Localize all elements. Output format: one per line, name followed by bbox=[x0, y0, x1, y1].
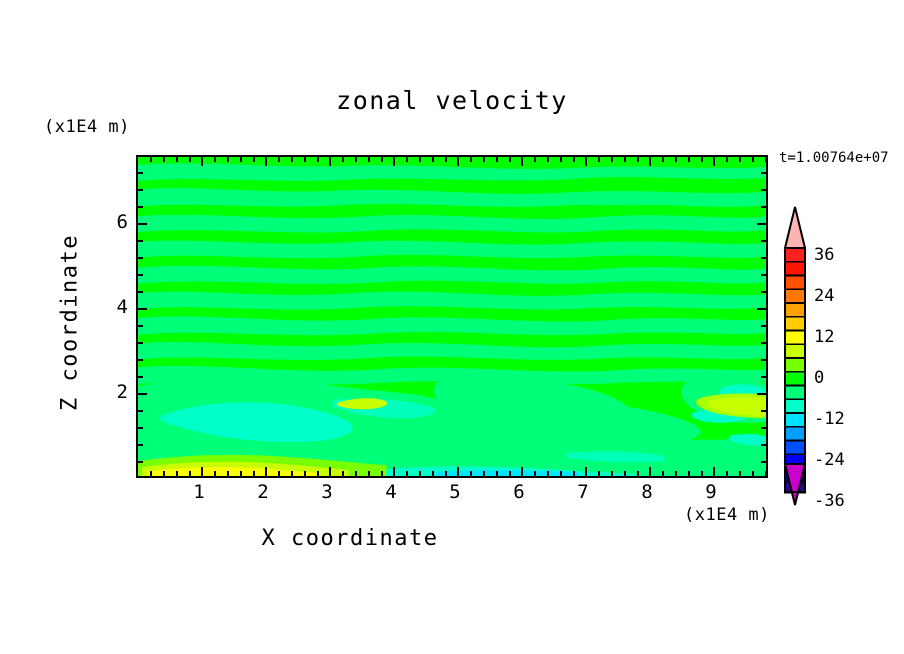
xtick-top-minor bbox=[509, 157, 511, 162]
xtick-top-minor bbox=[304, 157, 306, 162]
colorbar-label: -36 bbox=[814, 491, 845, 511]
xtick-label: 1 bbox=[179, 481, 219, 503]
ytick-right-major bbox=[757, 308, 766, 310]
xtick-minor bbox=[189, 471, 191, 476]
xtick-minor bbox=[304, 471, 306, 476]
ytick-label: 6 bbox=[88, 211, 128, 233]
xtick-top-minor bbox=[752, 157, 754, 162]
xtick-minor bbox=[240, 471, 242, 476]
xtick-top-minor bbox=[573, 157, 575, 162]
xtick-top-minor bbox=[726, 157, 728, 162]
ytick-minor bbox=[138, 410, 143, 412]
xtick-major bbox=[329, 467, 331, 476]
xtick-top-major bbox=[201, 157, 203, 166]
xtick-top-minor bbox=[189, 157, 191, 162]
page-title: zonal velocity bbox=[0, 86, 904, 115]
xtick-minor bbox=[496, 471, 498, 476]
figure-canvas: zonal velocity (x1E4 m) (x1E4 m) t=1.007… bbox=[0, 0, 904, 654]
xtick-minor bbox=[560, 471, 562, 476]
ytick-minor bbox=[138, 325, 143, 327]
xtick-minor bbox=[547, 471, 549, 476]
xtick-top-minor bbox=[253, 157, 255, 162]
ytick-right-minor bbox=[761, 257, 766, 259]
xtick-top-minor bbox=[598, 157, 600, 162]
colorbar-label: 12 bbox=[814, 327, 834, 347]
xtick-minor bbox=[253, 471, 255, 476]
x-axis-title: X coordinate bbox=[0, 526, 700, 551]
xtick-top-major bbox=[585, 157, 587, 166]
ytick-minor bbox=[138, 376, 143, 378]
xtick-minor bbox=[214, 471, 216, 476]
ytick-major bbox=[138, 223, 147, 225]
xtick-minor bbox=[675, 471, 677, 476]
colorbar-label: -24 bbox=[814, 450, 845, 470]
contour-field bbox=[138, 157, 766, 476]
ytick-right-minor bbox=[761, 240, 766, 242]
ytick-right-minor bbox=[761, 206, 766, 208]
xtick-top-minor bbox=[176, 157, 178, 162]
ytick-right-minor bbox=[761, 189, 766, 191]
xtick-minor bbox=[150, 471, 152, 476]
xtick-label: 5 bbox=[435, 481, 475, 503]
xtick-top-minor bbox=[739, 157, 741, 162]
colorbar-label: 0 bbox=[814, 368, 824, 388]
xtick-minor bbox=[726, 471, 728, 476]
xtick-label: 9 bbox=[691, 481, 731, 503]
xtick-top-minor bbox=[637, 157, 639, 162]
xtick-top-minor bbox=[163, 157, 165, 162]
xtick-major bbox=[393, 467, 395, 476]
xtick-label: 8 bbox=[627, 481, 667, 503]
xtick-top-minor bbox=[419, 157, 421, 162]
xtick-minor bbox=[406, 471, 408, 476]
ytick-major bbox=[138, 393, 147, 395]
colorbar bbox=[783, 206, 807, 506]
colorbar-label: 36 bbox=[814, 245, 834, 265]
xtick-top-minor bbox=[368, 157, 370, 162]
xtick-minor bbox=[317, 471, 319, 476]
ytick-right-minor bbox=[761, 444, 766, 446]
ytick-right-minor bbox=[761, 274, 766, 276]
xtick-minor bbox=[624, 471, 626, 476]
xtick-minor bbox=[739, 471, 741, 476]
xtick-top-minor bbox=[765, 157, 767, 162]
xtick-top-major bbox=[521, 157, 523, 166]
xtick-top-minor bbox=[470, 157, 472, 162]
xtick-top-minor bbox=[355, 157, 357, 162]
xtick-top-minor bbox=[227, 157, 229, 162]
ytick-minor bbox=[138, 240, 143, 242]
xtick-top-minor bbox=[342, 157, 344, 162]
xtick-top-minor bbox=[291, 157, 293, 162]
ytick-minor bbox=[138, 444, 143, 446]
xtick-minor bbox=[688, 471, 690, 476]
xtick-major bbox=[649, 467, 651, 476]
colorbar-label: -12 bbox=[814, 409, 845, 429]
xtick-minor bbox=[355, 471, 357, 476]
xtick-top-minor bbox=[381, 157, 383, 162]
xtick-top-minor bbox=[534, 157, 536, 162]
xtick-top-minor bbox=[432, 157, 434, 162]
xtick-minor bbox=[368, 471, 370, 476]
xtick-top-minor bbox=[611, 157, 613, 162]
xtick-top-minor bbox=[547, 157, 549, 162]
xtick-minor bbox=[637, 471, 639, 476]
ytick-minor bbox=[138, 206, 143, 208]
xtick-top-minor bbox=[150, 157, 152, 162]
xtick-top-minor bbox=[701, 157, 703, 162]
xtick-top-minor bbox=[214, 157, 216, 162]
xtick-top-minor bbox=[278, 157, 280, 162]
xtick-label: 6 bbox=[499, 481, 539, 503]
xtick-minor bbox=[765, 471, 767, 476]
xtick-minor bbox=[278, 471, 280, 476]
xtick-minor bbox=[483, 471, 485, 476]
xtick-major bbox=[713, 467, 715, 476]
xtick-minor bbox=[701, 471, 703, 476]
xtick-major bbox=[201, 467, 203, 476]
xtick-minor bbox=[534, 471, 536, 476]
ytick-right-minor bbox=[761, 172, 766, 174]
xtick-minor bbox=[509, 471, 511, 476]
xtick-minor bbox=[752, 471, 754, 476]
ytick-right-minor bbox=[761, 291, 766, 293]
xtick-minor bbox=[176, 471, 178, 476]
xtick-top-minor bbox=[317, 157, 319, 162]
contour-plot-area bbox=[136, 155, 768, 478]
ytick-minor bbox=[138, 342, 143, 344]
y-axis-units-label: (x1E4 m) bbox=[44, 117, 130, 137]
xtick-top-minor bbox=[240, 157, 242, 162]
xtick-top-minor bbox=[496, 157, 498, 162]
ytick-minor bbox=[138, 274, 143, 276]
xtick-minor bbox=[432, 471, 434, 476]
ytick-major bbox=[138, 308, 147, 310]
xtick-minor bbox=[381, 471, 383, 476]
ytick-label: 2 bbox=[88, 381, 128, 403]
xtick-minor bbox=[419, 471, 421, 476]
xtick-minor bbox=[342, 471, 344, 476]
xtick-minor bbox=[291, 471, 293, 476]
xtick-major bbox=[585, 467, 587, 476]
ytick-right-minor bbox=[761, 461, 766, 463]
xtick-top-minor bbox=[675, 157, 677, 162]
y-axis-title: Z coordinate bbox=[58, 213, 83, 433]
ytick-right-minor bbox=[761, 325, 766, 327]
xtick-top-major bbox=[649, 157, 651, 166]
ytick-minor bbox=[138, 461, 143, 463]
xtick-label: 7 bbox=[563, 481, 603, 503]
xtick-top-minor bbox=[483, 157, 485, 162]
xtick-top-minor bbox=[624, 157, 626, 162]
xtick-top-major bbox=[265, 157, 267, 166]
ytick-minor bbox=[138, 291, 143, 293]
xtick-top-minor bbox=[662, 157, 664, 162]
xtick-top-minor bbox=[688, 157, 690, 162]
xtick-top-major bbox=[457, 157, 459, 166]
ytick-minor bbox=[138, 172, 143, 174]
xtick-major bbox=[521, 467, 523, 476]
xtick-minor bbox=[598, 471, 600, 476]
colorbar-swatches bbox=[783, 206, 807, 506]
xtick-major bbox=[265, 467, 267, 476]
xtick-top-major bbox=[713, 157, 715, 166]
ytick-minor bbox=[138, 427, 143, 429]
ytick-right-minor bbox=[761, 410, 766, 412]
ytick-right-major bbox=[757, 223, 766, 225]
ytick-right-minor bbox=[761, 427, 766, 429]
xtick-top-minor bbox=[560, 157, 562, 162]
xtick-minor bbox=[573, 471, 575, 476]
ytick-label: 4 bbox=[88, 296, 128, 318]
xtick-top-minor bbox=[406, 157, 408, 162]
ytick-minor bbox=[138, 257, 143, 259]
xtick-minor bbox=[227, 471, 229, 476]
ytick-minor bbox=[138, 189, 143, 191]
xtick-minor bbox=[662, 471, 664, 476]
xtick-label: 2 bbox=[243, 481, 283, 503]
x-axis-units-label: (x1E4 m) bbox=[684, 505, 770, 525]
xtick-minor bbox=[611, 471, 613, 476]
xtick-top-minor bbox=[445, 157, 447, 162]
xtick-minor bbox=[163, 471, 165, 476]
timestamp-annotation: t=1.00764e+07 bbox=[779, 150, 889, 166]
ytick-right-minor bbox=[761, 376, 766, 378]
xtick-label: 3 bbox=[307, 481, 347, 503]
xtick-label: 4 bbox=[371, 481, 411, 503]
ytick-right-minor bbox=[761, 342, 766, 344]
xtick-minor bbox=[445, 471, 447, 476]
xtick-minor bbox=[470, 471, 472, 476]
xtick-top-major bbox=[329, 157, 331, 166]
colorbar-label: 24 bbox=[814, 286, 834, 306]
ytick-right-major bbox=[757, 393, 766, 395]
ytick-minor bbox=[138, 359, 143, 361]
colorbar-over-arrow bbox=[785, 207, 805, 248]
ytick-right-minor bbox=[761, 359, 766, 361]
xtick-major bbox=[457, 467, 459, 476]
xtick-top-major bbox=[393, 157, 395, 166]
